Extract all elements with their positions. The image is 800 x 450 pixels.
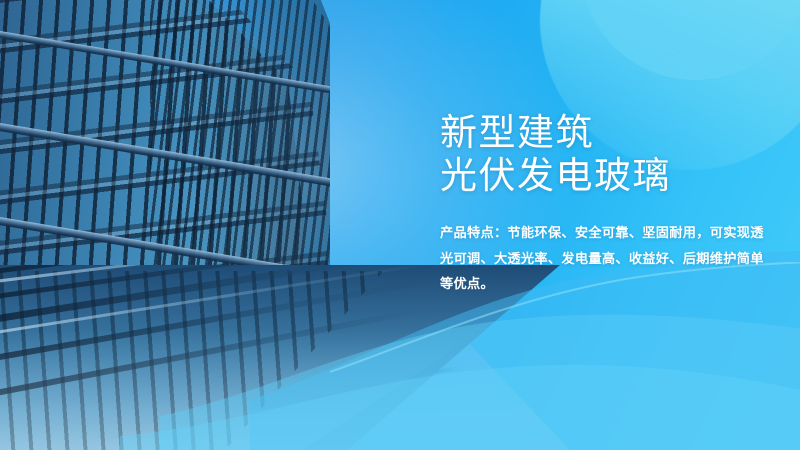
page-title: 新型建筑 光伏发电玻璃: [440, 112, 780, 198]
product-features-text: 产品特点：节能环保、安全可靠、坚固耐用，可实现透光可调、大透光率、发电量高、收益…: [440, 220, 772, 297]
banner-copy-block: 新型建筑 光伏发电玻璃 产品特点：节能环保、安全可靠、坚固耐用，可实现透光可调、…: [440, 112, 780, 297]
headline-line-1: 新型建筑: [440, 112, 594, 153]
product-banner: 新型建筑 光伏发电玻璃 产品特点：节能环保、安全可靠、坚固耐用，可实现透光可调、…: [0, 0, 800, 450]
headline-line-2: 光伏发电玻璃: [440, 155, 780, 198]
floor-gloss-sheen: [0, 330, 560, 450]
